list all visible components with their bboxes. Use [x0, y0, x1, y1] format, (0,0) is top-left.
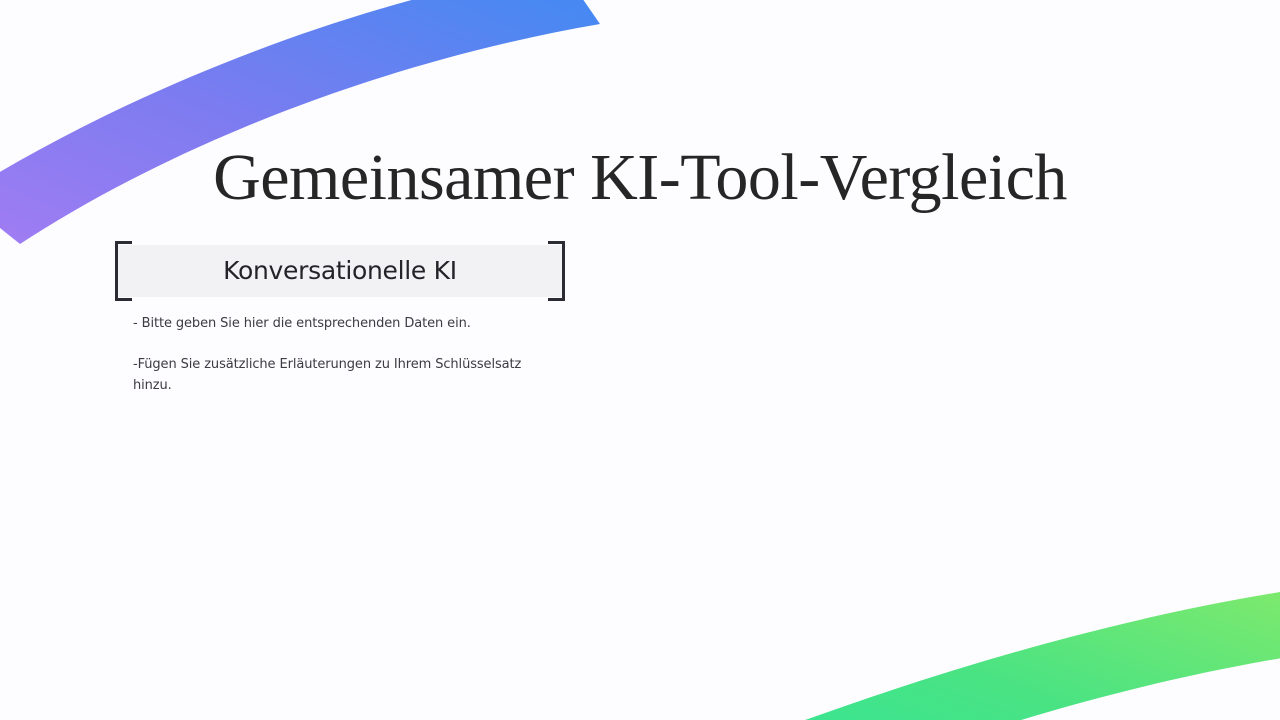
- quadrant-grid: Konversationelle KI - Bitte geben Sie hi…: [0, 245, 1280, 720]
- bullet-item: -Fügen Sie zusätzliche Erläuterungen zu …: [133, 354, 562, 396]
- bracket-right-icon: [548, 241, 565, 301]
- page-title: Gemeinsamer KI-Tool-Vergleich: [0, 136, 1280, 220]
- quadrant-row-top: Konversationelle KI - Bitte geben Sie hi…: [0, 245, 1280, 720]
- bullet-item: - Bitte geben Sie hier die entsprechende…: [133, 313, 562, 334]
- slide-canvas: Gemeinsamer KI-Tool-Vergleich Konversati…: [0, 0, 1280, 720]
- quadrant-header-label-1: Konversationelle KI: [223, 256, 457, 286]
- bracket-left-icon: [115, 241, 132, 301]
- quadrant-konversationelle-ki: Konversationelle KI - Bitte geben Sie hi…: [0, 245, 640, 720]
- quadrant-bullets-1: - Bitte geben Sie hier die entsprechende…: [118, 313, 562, 396]
- quadrant-header-box-1[interactable]: Konversationelle KI: [118, 245, 562, 297]
- quadrant-ai-informationsausweitung: AI-Informationsausweitung - Bitte geben …: [640, 245, 1280, 720]
